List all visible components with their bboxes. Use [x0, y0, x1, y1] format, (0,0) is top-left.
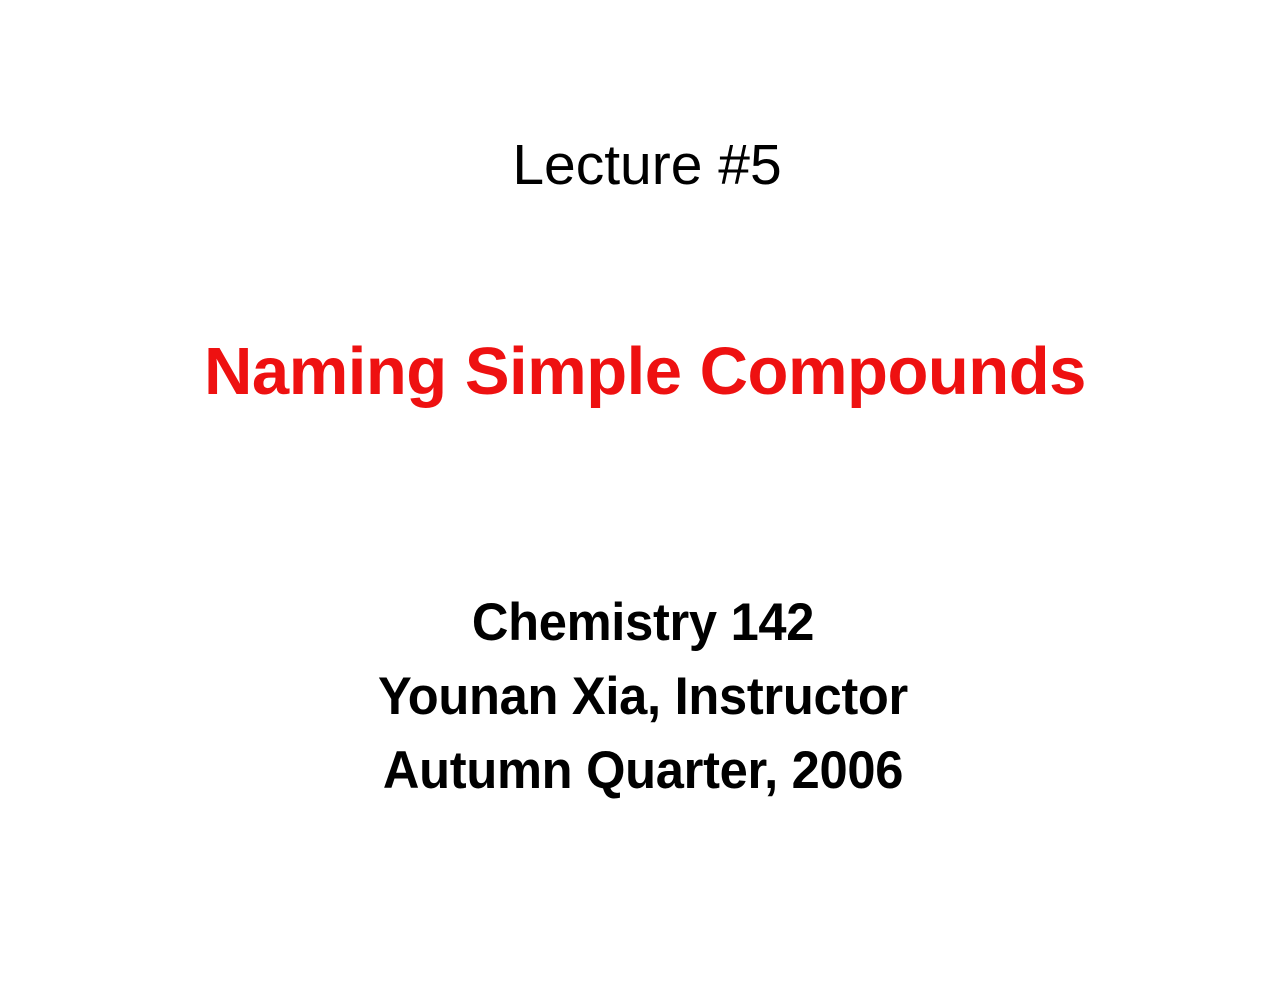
course-name-line: Chemistry 142: [29, 586, 1257, 660]
instructor-line: Younan Xia, Instructor: [29, 660, 1257, 734]
term-line: Autumn Quarter, 2006: [29, 734, 1257, 808]
presentation-slide: Lecture #5 Naming Simple Compounds Chemi…: [0, 0, 1280, 989]
lecture-number-title: Lecture #5: [0, 137, 1280, 194]
credit-block: Chemistry 142 Younan Xia, Instructor Aut…: [0, 586, 1280, 808]
slide-heading: Naming Simple Compounds: [0, 338, 1280, 405]
